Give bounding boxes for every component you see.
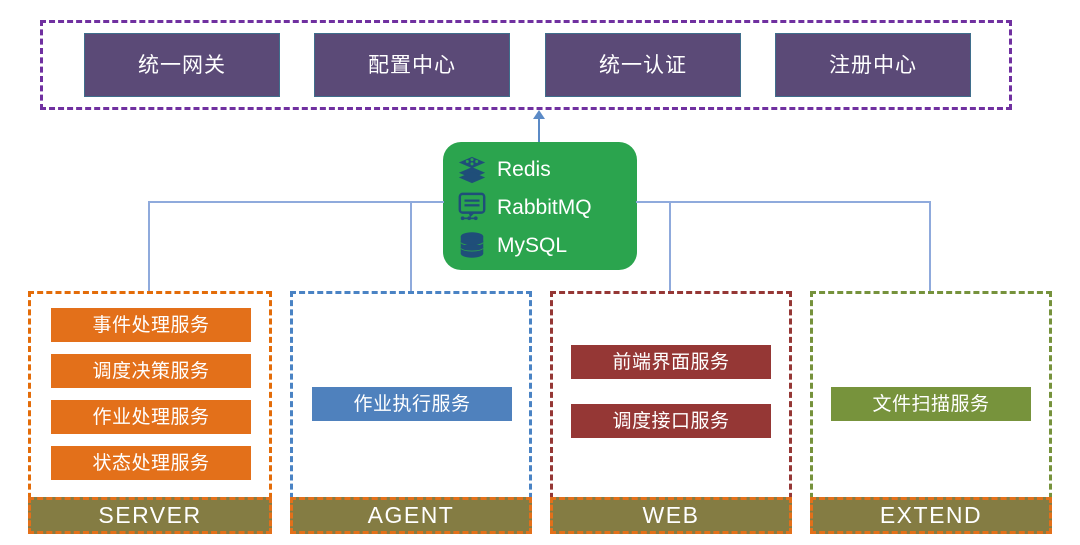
arrow-middleware-to-platform-head	[533, 110, 545, 119]
service-label: 作业处理服务	[92, 408, 209, 427]
service-label: 前端界面服务	[612, 353, 729, 372]
connector-drop-extend	[929, 201, 931, 291]
column-frame-web	[550, 291, 792, 508]
middleware-item-label: Redis	[497, 159, 551, 180]
architecture-diagram: 统一网关 配置中心 统一认证 注册中心 Redis	[0, 0, 1080, 545]
tier-label-text: AGENT	[368, 504, 455, 527]
connector-bus-left	[148, 201, 444, 203]
service-label: 调度决策服务	[92, 362, 209, 381]
service-label: 事件处理服务	[92, 316, 209, 335]
tier-label-web[interactable]: WEB	[550, 497, 792, 534]
tier-label-text: EXTEND	[880, 504, 982, 527]
platform-box-unified-auth[interactable]: 统一认证	[545, 33, 741, 97]
tier-label-extend[interactable]: EXTEND	[810, 497, 1052, 534]
platform-box-label: 注册中心	[829, 55, 917, 76]
mysql-database-icon	[457, 230, 487, 260]
platform-box-config-center[interactable]: 配置中心	[314, 33, 510, 97]
middleware-box[interactable]: Redis RabbitMQ	[443, 142, 637, 270]
service-box-file-scan[interactable]: 文件扫描服务	[831, 387, 1031, 421]
rabbitmq-message-icon	[457, 192, 487, 222]
middleware-item-redis[interactable]: Redis	[457, 154, 551, 184]
platform-box-label: 统一认证	[599, 55, 687, 76]
platform-box-unified-gateway[interactable]: 统一网关	[84, 33, 280, 97]
middleware-item-label: RabbitMQ	[497, 197, 592, 218]
middleware-item-rabbitmq[interactable]: RabbitMQ	[457, 192, 592, 222]
arrow-middleware-to-platform-shaft	[538, 118, 540, 142]
tier-label-text: SERVER	[98, 504, 201, 527]
service-box-event-processing[interactable]: 事件处理服务	[51, 308, 251, 342]
tier-label-text: WEB	[643, 504, 700, 527]
service-label: 调度接口服务	[612, 412, 729, 431]
tier-label-agent[interactable]: AGENT	[290, 497, 532, 534]
service-box-status-processing[interactable]: 状态处理服务	[51, 446, 251, 480]
platform-box-registry-center[interactable]: 注册中心	[775, 33, 971, 97]
connector-drop-agent	[410, 201, 412, 291]
middleware-item-mysql[interactable]: MySQL	[457, 230, 567, 260]
service-label: 文件扫描服务	[872, 395, 989, 414]
service-box-job-execution[interactable]: 作业执行服务	[312, 387, 512, 421]
service-label: 作业执行服务	[353, 395, 470, 414]
connector-drop-web	[669, 201, 671, 291]
service-box-scheduling-api[interactable]: 调度接口服务	[571, 404, 771, 438]
tier-label-server[interactable]: SERVER	[28, 497, 272, 534]
service-box-scheduling-decision[interactable]: 调度决策服务	[51, 354, 251, 388]
connector-bus-right	[636, 201, 930, 203]
connector-drop-server	[148, 201, 150, 291]
service-box-job-processing[interactable]: 作业处理服务	[51, 400, 251, 434]
platform-box-label: 统一网关	[138, 55, 226, 76]
platform-box-label: 配置中心	[368, 55, 456, 76]
service-label: 状态处理服务	[92, 454, 209, 473]
middleware-item-label: MySQL	[497, 235, 567, 256]
redis-layers-icon	[457, 154, 487, 184]
service-box-frontend-ui[interactable]: 前端界面服务	[571, 345, 771, 379]
